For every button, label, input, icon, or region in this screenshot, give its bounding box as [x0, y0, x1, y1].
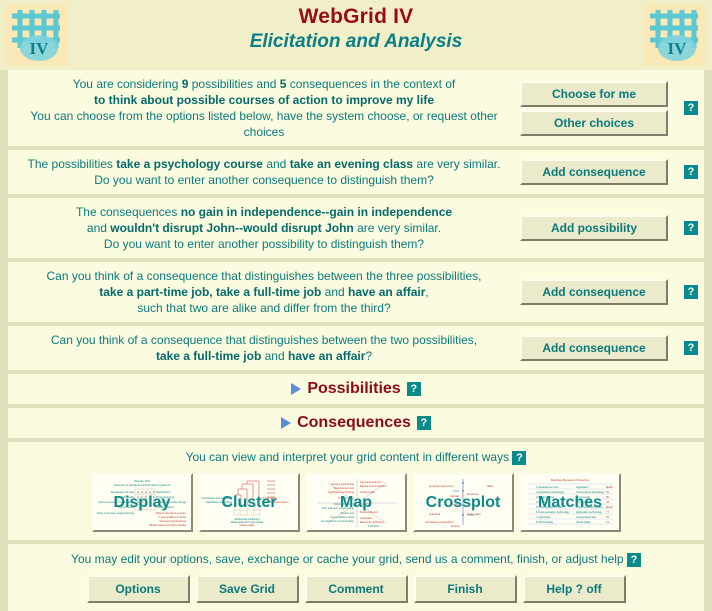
sp-possibility-2: take an evening class	[290, 157, 413, 171]
three-possibilities-buttons: Add consequence	[514, 279, 678, 305]
footer-panel: You may edit your options, save, exchang…	[8, 544, 704, 611]
possibilities-section[interactable]: Possibilities ?	[8, 374, 704, 404]
consequences-section[interactable]: Consequences ?	[8, 408, 704, 438]
matches-view-label[interactable]: Matches	[522, 494, 619, 512]
options-button[interactable]: Options	[87, 575, 190, 603]
context-topic: to think about possible courses of actio…	[94, 93, 434, 107]
help-icon[interactable]: ?	[512, 451, 526, 465]
footer-intro-text: You may edit your options, save, exchang…	[71, 552, 624, 566]
help-icon[interactable]: ?	[627, 553, 641, 567]
crossplot-view-label[interactable]: Crossplot	[415, 494, 512, 512]
context-line1-post: consequences in the context of	[286, 77, 455, 91]
twop-possibility-1: take a full-time job	[156, 349, 261, 363]
twop-possibility-2: have an affair	[288, 349, 365, 363]
svg-text:Conventional tool: Conventional tool	[576, 515, 596, 519]
page-title: WebGrid IV	[0, 5, 712, 29]
context-block: You are considering 9 possibilities and …	[8, 70, 704, 146]
similar-possibilities-text: The possibilities take a psychology cour…	[8, 150, 514, 194]
svg-text:programmed tool x: programmed tool x	[429, 484, 455, 488]
tp-possibilities-12: take a part-time job, take a full-time j…	[99, 285, 321, 299]
sc-consequence-1: no gain in independence--gain in indepen…	[181, 205, 452, 219]
webgrid-page: IV IV WebGrid IV Elicitation and An	[0, 0, 712, 550]
cluster-view-label[interactable]: Cluster	[201, 494, 298, 512]
sp-post: are very similar.	[413, 157, 500, 171]
comment-button[interactable]: Comment	[305, 575, 408, 603]
svg-text:Electronic publishing: Electronic publishing	[360, 520, 384, 524]
svg-text:Visual programming: Visual programming	[330, 482, 354, 486]
sp-pre: The possibilities	[28, 157, 117, 171]
display-view-thumbnail[interactable]: Display WG "aspects of advanced informat…	[92, 473, 193, 532]
svg-text:Development tool: Development tool	[333, 486, 354, 490]
similar-possibilities-block: The possibilities take a psychology cour…	[8, 150, 704, 194]
logo-right: IV	[644, 4, 706, 66]
context-line3: You can choose from the options listed b…	[18, 108, 510, 140]
svg-text:Application: Application	[360, 516, 373, 520]
tp-post: ,	[425, 285, 428, 299]
sc-post: are very similar.	[354, 221, 441, 235]
context-line1-mid: possibilities and	[188, 77, 279, 91]
expand-triangle-icon[interactable]	[291, 383, 301, 395]
header-titles: WebGrid IV Elicitation and Analysis	[0, 0, 712, 55]
svg-text:Multimedia and hypermedia: Multimedia and hypermedia	[149, 523, 186, 527]
svg-text:IV: IV	[668, 39, 688, 58]
sc-consequence-2: wouldn't disrupt John--would disrupt Joh…	[110, 221, 353, 235]
svg-text:2.25 25%: 2.25 25%	[368, 524, 380, 528]
svg-text:adbv: adbv	[487, 484, 494, 488]
context-text: You are considering 9 possibilities and …	[8, 70, 514, 146]
sp-mid: and	[263, 157, 290, 171]
help-icon[interactable]: ?	[684, 341, 698, 355]
possibilities-label[interactable]: Possibilities	[307, 380, 400, 398]
finish-button[interactable]: Finish	[414, 575, 517, 603]
sc-and: and	[87, 221, 110, 235]
expand-triangle-icon[interactable]	[281, 417, 291, 429]
tp-possibility-3: have an affair	[348, 285, 425, 299]
svg-text:IV: IV	[30, 39, 50, 58]
help-icon[interactable]: ?	[684, 165, 698, 179]
similar-consequences-block: The consequences no gain in independence…	[8, 198, 704, 258]
tp-and: and	[321, 285, 348, 299]
display-view-label[interactable]: Display	[94, 494, 191, 512]
logo-left: IV	[6, 4, 68, 66]
views-panel: You can view and interpret your grid con…	[8, 442, 704, 540]
map-view-label[interactable]: Map	[308, 494, 405, 512]
page-header: IV IV WebGrid IV Elicitation and An	[0, 0, 712, 70]
svg-text:Conventional communication: Conventional communication	[320, 519, 354, 523]
two-possibilities-buttons: Add consequence	[514, 335, 678, 361]
svg-text:75: 75	[606, 515, 609, 519]
svg-text:Visual reality: Visual reality	[239, 523, 254, 527]
svg-text:practical: practical	[429, 512, 441, 516]
similar-consequences-text: The consequences no gain in independence…	[8, 198, 514, 258]
svg-text:video tape: video tape	[467, 512, 481, 516]
views-intro: You can view and interpret your grid con…	[8, 448, 704, 473]
add-possibility-button[interactable]: Add possibility	[520, 215, 668, 241]
cluster-view-thumbnail[interactable]: Conventional communication Application t…	[199, 473, 300, 532]
svg-text:Matches Between Properties: Matches Between Properties	[550, 478, 589, 482]
add-consequence-button[interactable]: Add consequence	[520, 335, 668, 361]
svg-text:lecture: lecture	[451, 524, 460, 528]
sc-question: Do you want to enter another possibility…	[18, 236, 510, 252]
svg-text:Application: Application	[576, 485, 589, 489]
svg-text:72: 72	[606, 520, 609, 524]
context-buttons: Choose for me Other choices	[514, 81, 678, 136]
view-thumbnails: Display WG "aspects of advanced informat…	[8, 473, 704, 532]
context-line1-pre: You are considering	[73, 77, 182, 91]
three-possibilities-block: Can you think of a consequence that dist…	[8, 262, 704, 322]
svg-text:System tool: System tool	[340, 511, 354, 515]
footer-buttons: Options Save Grid Comment Finish Help ? …	[8, 575, 704, 603]
help-icon[interactable]: ?	[417, 416, 431, 430]
three-possibilities-text: Can you think of a consequence that dist…	[8, 262, 514, 322]
help-icon[interactable]: ?	[684, 221, 698, 235]
page-subtitle: Elicitation and Analysis	[0, 29, 712, 55]
crossplot-view-thumbnail[interactable]: programmed tool x adbv tutorial structur…	[413, 473, 514, 532]
svg-text:Only end-user programming: Only end-user programming	[96, 511, 134, 515]
views-intro-text: You can view and interpret your grid con…	[186, 450, 510, 464]
choose-for-me-button[interactable]: Choose for me	[520, 81, 668, 107]
sc-pre: The consequences	[76, 205, 181, 219]
tp-question: such that two are alike and differ from …	[18, 300, 510, 316]
help-icon[interactable]: ?	[684, 285, 698, 299]
tp-line1: Can you think of a consequence that dist…	[18, 268, 510, 284]
add-consequence-button[interactable]: Add consequence	[520, 279, 668, 305]
svg-text:7 Application: 7 Application	[536, 515, 551, 519]
sp-question: Do you want to enter another consequence…	[18, 172, 510, 188]
other-choices-button[interactable]: Other choices	[520, 110, 668, 136]
consequences-label[interactable]: Consequences	[297, 414, 411, 432]
svg-text:Match: Match	[606, 485, 614, 489]
svg-text:8 Virtual reality: 8 Virtual reality	[536, 520, 554, 524]
matches-view-thumbnail[interactable]: Matches Between Properties 1 Development…	[520, 473, 621, 532]
twop-line1: Can you think of a consequence that dist…	[18, 332, 510, 348]
svg-text:interactive integration: interactive integration	[425, 520, 454, 524]
similar-possibilities-buttons: Add consequence	[514, 159, 678, 185]
twop-post: ?	[365, 349, 372, 363]
svg-text:Cross-platform GUIs: Cross-platform GUIs	[330, 515, 354, 519]
sp-possibility-1: take a psychology course	[116, 157, 263, 171]
svg-text:Semi-autonomous: Semi-autonomous	[360, 480, 382, 484]
help-icon[interactable]: ?	[684, 101, 698, 115]
help-icon[interactable]: ?	[407, 382, 421, 396]
help-toggle-button[interactable]: Help ? off	[523, 575, 626, 603]
svg-text:"aspects of advanced informati: "aspects of advanced information systems…	[113, 483, 170, 487]
twop-and: and	[261, 349, 288, 363]
two-possibilities-block: Can you think of a consequence that dist…	[8, 326, 704, 370]
similar-consequences-buttons: Add possibility	[514, 215, 678, 241]
svg-text:1 Development tool: 1 Development tool	[536, 485, 559, 489]
save-grid-button[interactable]: Save Grid	[196, 575, 299, 603]
svg-text:Visual reality: Visual reality	[576, 520, 591, 524]
map-view-thumbnail[interactable]: Visual programming Development tool Appl…	[306, 473, 407, 532]
add-consequence-button[interactable]: Add consequence	[520, 159, 668, 185]
two-possibilities-text: Can you think of a consequence that dist…	[8, 326, 514, 370]
svg-text:Repeat communication: Repeat communication	[360, 484, 387, 488]
footer-intro: You may edit your options, save, exchang…	[8, 550, 704, 575]
